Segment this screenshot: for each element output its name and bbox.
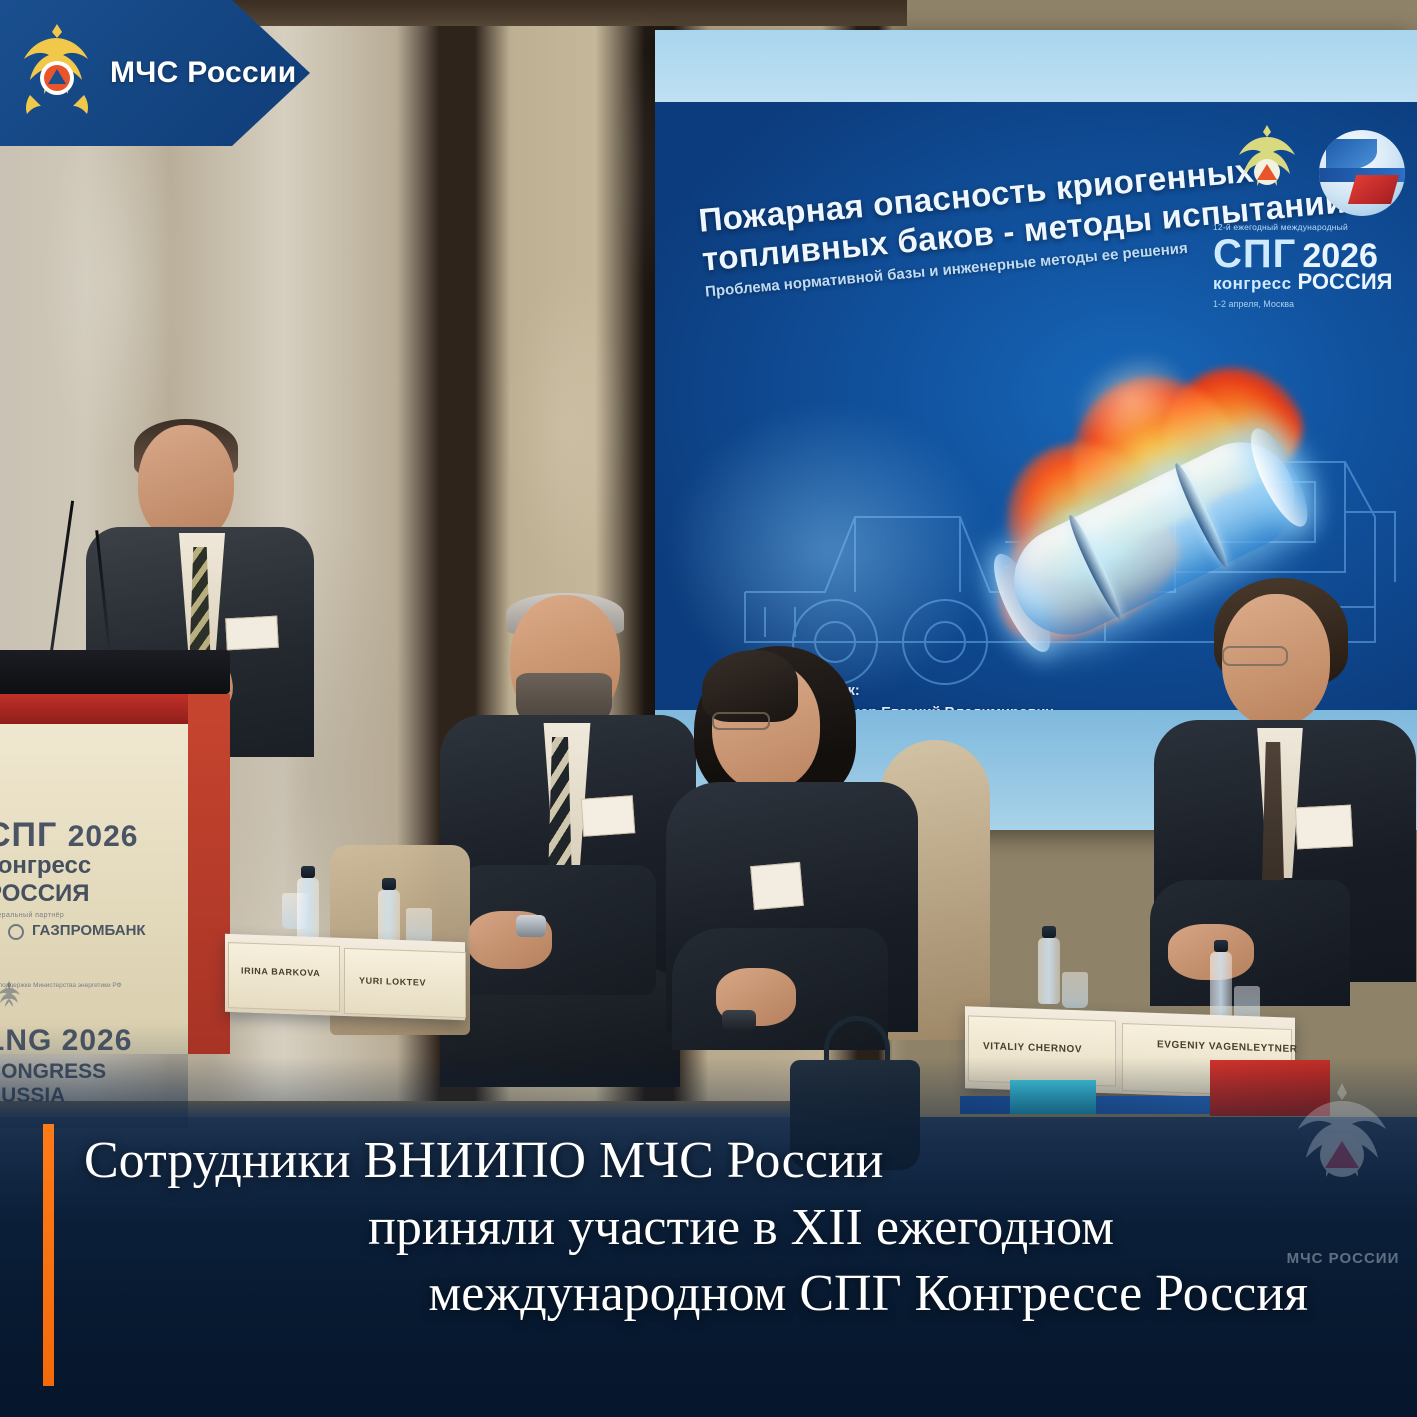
water-bottle <box>1038 938 1060 1004</box>
gazprombank-logo-icon <box>8 924 24 940</box>
glasses-icon <box>712 712 770 730</box>
nameplate-text: EVGENIY VAGENLEYTNER <box>1157 1039 1298 1055</box>
podium: СПГ 2026 конгресс РОССИЯ генеральный пар… <box>0 650 230 1100</box>
congress-superscript: 12-й ежегодный международный <box>1213 222 1413 232</box>
nameplate: YURI LOKTEV <box>344 948 466 1018</box>
podium-abbr: СПГ <box>0 816 57 854</box>
mchs-banner-label: МЧС России <box>110 56 297 90</box>
water-bottle <box>1210 952 1232 1018</box>
lng-congress-wordmark: 12-й ежегодный международный СПГ 2026 ко… <box>1213 222 1413 309</box>
nameplate-text: VITALIY CHERNOV <box>983 1041 1082 1055</box>
russian-federation-emblem-icon <box>0 980 22 1012</box>
screen-top-band <box>655 30 1417 102</box>
podium-partner-name: ГАЗПРОМБАНК <box>32 922 146 939</box>
lng-congress-round-logo-icon <box>1319 130 1405 216</box>
congress-dates: 1-2 апреля, Москва <box>1213 299 1413 309</box>
congress-country: РОССИЯ <box>1298 269 1393 295</box>
water-glass <box>406 908 432 944</box>
head <box>138 425 234 543</box>
name-badge <box>581 795 636 837</box>
podium-year: 2026 <box>68 820 139 853</box>
panelist-2 <box>660 650 940 1050</box>
photo-card: Пожарная опасность криогенных топливных … <box>0 0 1417 1417</box>
podium-side-panel <box>188 694 230 1054</box>
caption-accent-bar <box>43 1124 54 1386</box>
mchs-eagle-emblem-icon <box>1229 122 1305 216</box>
name-badge <box>750 862 804 910</box>
podium-country: РОССИЯ <box>0 880 90 907</box>
congress-word: конгресс <box>1213 274 1292 294</box>
slide-corner-logos: 12-й ежегодный международный СПГ 2026 ко… <box>1207 116 1407 326</box>
water-glass <box>1062 972 1088 1008</box>
podium-branding-panel: СПГ 2026 конгресс РОССИЯ генеральный пар… <box>0 724 188 1054</box>
caption: Сотрудники ВНИИПО МЧС России приняли уча… <box>84 1128 1314 1328</box>
nameplate-text: IRINA BARKOVA <box>241 965 320 978</box>
caption-line-3: международном СПГ Конгрессе Россия <box>84 1261 1314 1328</box>
name-badge <box>1295 805 1353 850</box>
wristwatch-icon <box>516 915 546 937</box>
wristwatch-icon <box>722 1010 756 1030</box>
caption-line-1: Сотрудники ВНИИПО МЧС России <box>84 1128 1314 1195</box>
podium-abbr-row: СПГ 2026 <box>0 816 138 855</box>
nameplate-text: YURI LOKTEV <box>359 975 426 987</box>
glasses-icon <box>1222 646 1288 666</box>
mchs-eagle-emblem-icon <box>14 21 100 125</box>
caption-line-2: приняли участие в XII ежегодном <box>84 1195 1314 1262</box>
podium-country-row: конгресс РОССИЯ <box>0 852 188 908</box>
podium-congress-word: конгресс <box>0 852 91 879</box>
nameplate: IRINA BARKOVA <box>228 942 340 1012</box>
panelist-3 <box>1150 580 1417 1010</box>
podium-top <box>0 650 230 694</box>
name-badge <box>225 616 279 651</box>
podium-partner-label: генеральный партнёр <box>0 912 64 919</box>
congress-abbr: СПГ <box>1213 232 1296 277</box>
